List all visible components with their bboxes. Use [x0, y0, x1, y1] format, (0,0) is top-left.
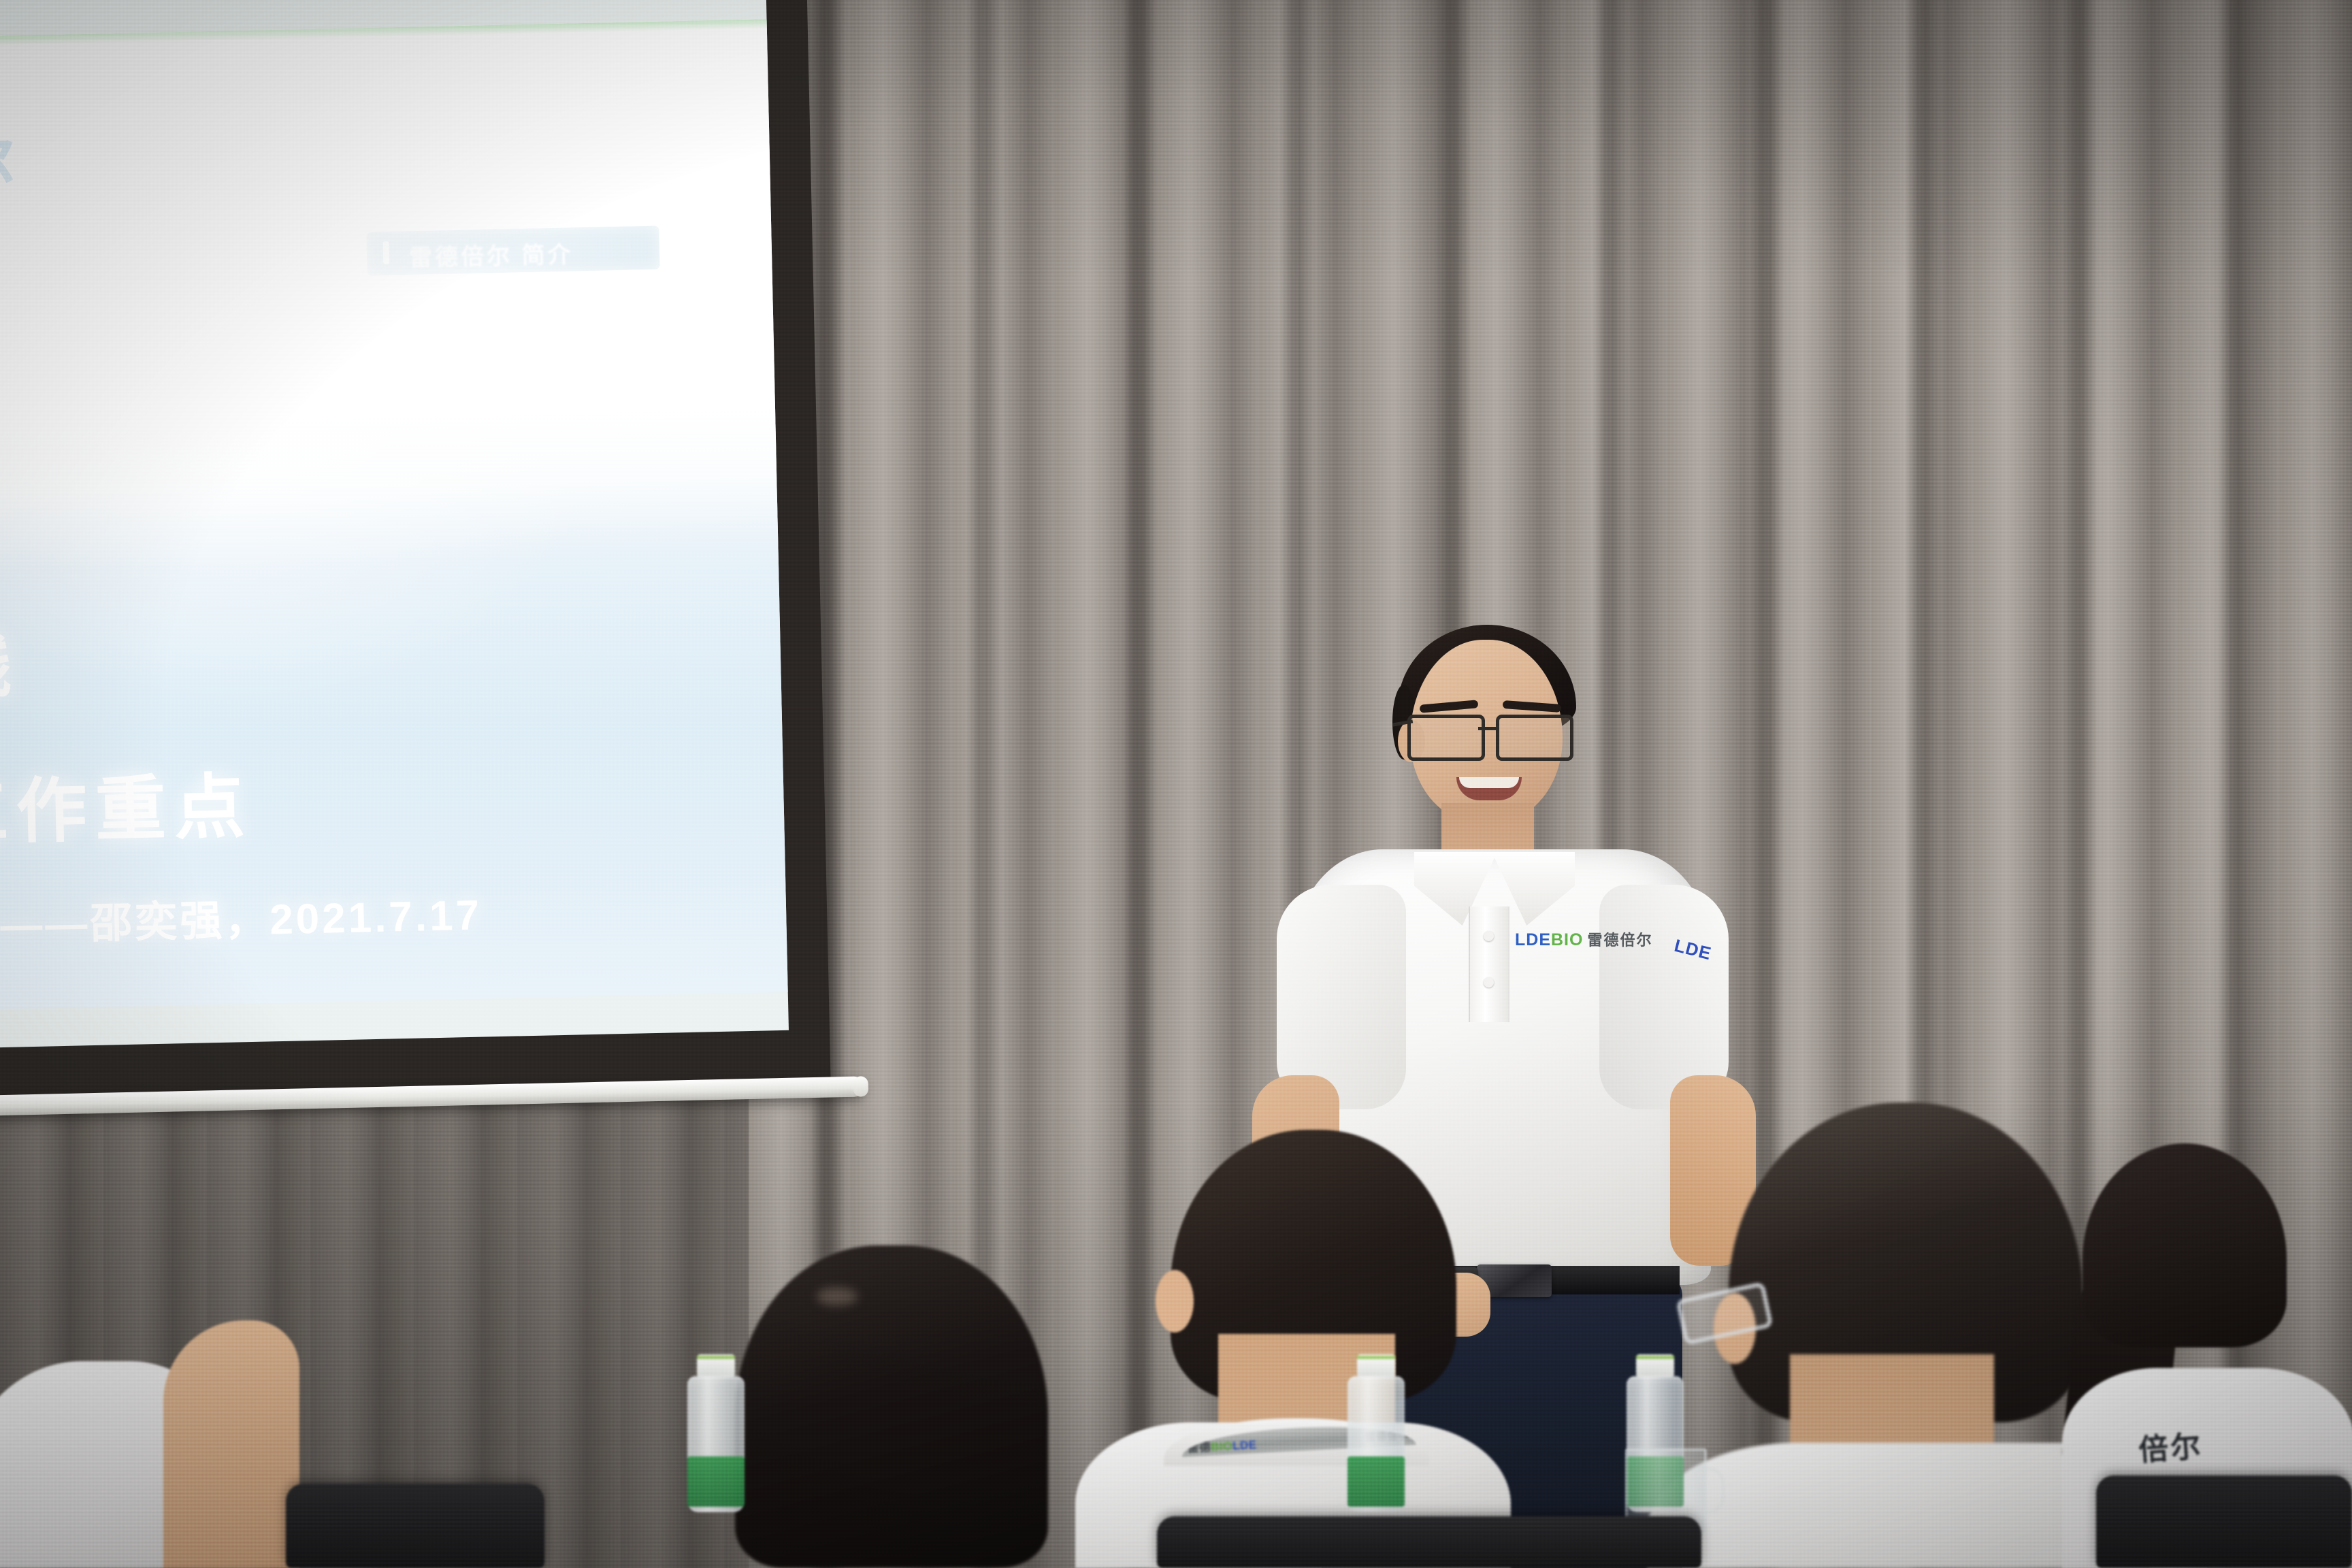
slide-signature: ——邵奕强，2021.7.17	[0, 881, 483, 952]
projected-slide: 倍尔 雷德倍尔 简介 品线 年工作重点 ——邵奕强，2021.7.17	[0, 19, 788, 1010]
slide-line-1: 品线	[0, 607, 20, 713]
screen-frame: 倍尔 雷德倍尔 简介 品线 年工作重点 ——邵奕强，2021.7.17	[0, 0, 831, 1099]
audience-arm	[163, 1320, 299, 1568]
presenter-teeth	[1459, 777, 1519, 788]
bottle-cap	[1636, 1354, 1674, 1377]
lanyard-text-left: 雷德BIOLDE	[1187, 1435, 1257, 1455]
presenter-shirt-button	[1484, 931, 1494, 941]
glasses-lens-right	[1496, 715, 1573, 761]
logo-text-lde: LDE	[1515, 930, 1551, 949]
presenter-chest-logo: LDEBIO雷德倍尔	[1515, 928, 1652, 950]
lanyard-lde: LDE	[1232, 1438, 1257, 1452]
mesh-office-chair	[2096, 1475, 2352, 1568]
screen-surface: 倍尔 雷德倍尔 简介 品线 年工作重点 ——邵奕强，2021.7.17	[0, 0, 789, 1048]
slide-top-light-leak	[0, 19, 767, 46]
slide-brand-heading: 倍尔	[0, 109, 22, 209]
presenter-shirt-button	[1484, 977, 1494, 987]
bottle-label	[687, 1456, 745, 1507]
chip-accent-bar	[383, 241, 390, 264]
water-bottle	[1347, 1354, 1405, 1518]
audience-shirt-print: 倍尔	[2137, 1422, 2204, 1469]
chip-label: 雷德倍尔 简介	[408, 235, 573, 272]
audience-hair	[2082, 1143, 2287, 1347]
projector-hotspot-glow	[0, 19, 788, 1010]
audience-man-lanyard: 雷德BIOLDE 雷德倍尔	[1082, 1130, 1504, 1568]
slide-chip-banner: 雷德倍尔 简介	[366, 226, 659, 276]
mesh-office-chair	[1157, 1516, 1701, 1568]
water-bottle	[687, 1354, 745, 1518]
audience-woman-long-hair	[708, 1245, 1075, 1568]
slide-line-2: 年工作重点	[0, 749, 254, 860]
glasses-bridge	[1478, 727, 1497, 730]
bottle-cap	[1357, 1354, 1395, 1377]
glasses-lens-left	[1407, 715, 1485, 761]
presenter-placket	[1469, 906, 1509, 1022]
logo-text-chinese: 雷德倍尔	[1587, 932, 1652, 949]
presenter-glasses	[1403, 715, 1575, 757]
bottle-label	[1347, 1456, 1405, 1507]
logo-text-bio: BIO	[1551, 930, 1583, 949]
projector-screen: 倍尔 雷德倍尔 简介 品线 年工作重点 ——邵奕强，2021.7.17	[0, 0, 842, 1150]
mesh-office-chair	[286, 1484, 544, 1568]
audience-ear	[1156, 1270, 1194, 1333]
lanyard-bio: BIO	[1211, 1439, 1233, 1454]
audience-hair	[735, 1245, 1048, 1568]
audience-left-edge	[0, 1279, 286, 1568]
lanyard-cn: 雷德	[1187, 1441, 1211, 1455]
bottle-cap	[697, 1354, 735, 1377]
photo-scene: 倍尔 雷德倍尔 简介 品线 年工作重点 ——邵奕强，2021.7.17	[0, 0, 2352, 1568]
